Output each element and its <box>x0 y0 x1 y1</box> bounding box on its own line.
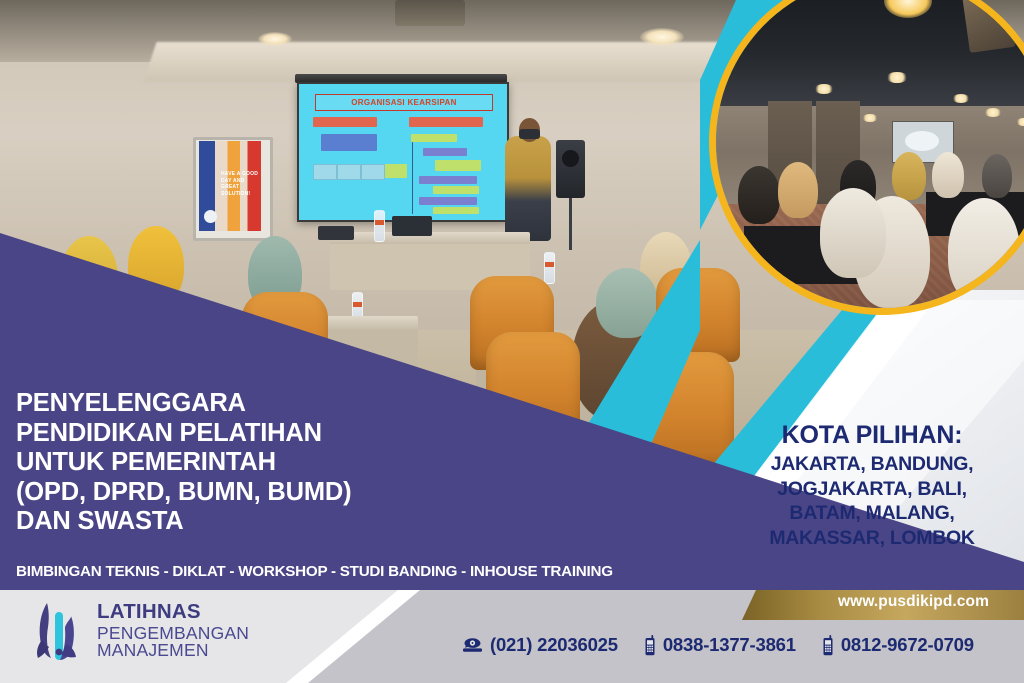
slide-node <box>409 117 483 127</box>
slide-node <box>435 160 481 171</box>
logo-wordmark: LATIHNAS PENGEMBANGAN MANAJEMEN <box>97 602 249 660</box>
website-url[interactable]: www.pusdikipd.com <box>838 593 989 611</box>
water-bottle <box>374 210 385 242</box>
mobile-number-1: 0838-1377-3861 <box>663 634 796 656</box>
inset-downlight <box>984 108 1002 117</box>
slide-node <box>423 148 467 156</box>
slide-node <box>337 164 361 180</box>
cities-heading: KOTA PILIHAN: <box>726 420 1018 450</box>
slide-node <box>433 207 479 214</box>
ceiling-light <box>640 28 684 46</box>
headline-line-3: UNTUK PEMERINTAH <box>16 448 351 478</box>
contact-telephone[interactable]: (021) 22036025 <box>462 634 618 656</box>
chair <box>242 292 328 388</box>
cities-line-1: JAKARTA, BANDUNG, <box>726 452 1018 477</box>
cities-block: KOTA PILIHAN: JAKARTA, BANDUNG, JOGJAKAR… <box>726 420 1018 550</box>
inset-projector <box>962 0 1015 53</box>
headline: PENYELENGGARA PENDIDIKAN PELATIHAN UNTUK… <box>16 389 351 537</box>
inset-downlight <box>952 94 970 103</box>
projection-screen: ORGANISASI KEARSIPAN <box>297 82 509 222</box>
headline-line-5: DAN SWASTA <box>16 507 351 537</box>
slide-node <box>419 197 477 205</box>
motivation-poster: HAVE A GOOD DAY AND GREAT SOLUTION! <box>199 141 261 231</box>
promotional-banner: HAVE A GOOD DAY AND GREAT SOLUTION! ORGA… <box>0 0 1024 683</box>
water-bottle <box>544 252 555 284</box>
mic-stand <box>569 198 572 250</box>
slide-node <box>361 164 385 180</box>
ceiling-light <box>258 32 292 46</box>
inset-participant <box>738 166 780 224</box>
inset-participant <box>820 188 886 278</box>
inset-downlight <box>814 84 834 94</box>
cities-line-2: JOGJAKARTA, BALI, <box>726 477 1018 502</box>
presenter-mask <box>519 129 540 139</box>
presenter-body <box>505 136 551 241</box>
chair <box>486 332 580 442</box>
inset-downlight <box>886 72 908 83</box>
poster-badge <box>204 210 217 223</box>
latihnas-logo[interactable]: LATIHNAS PENGEMBANGAN MANAJEMEN <box>30 600 249 662</box>
inset-participant <box>948 198 1020 304</box>
slide-connector <box>412 142 413 214</box>
poster-text: HAVE A GOOD DAY AND GREAT SOLUTION! <box>221 171 261 197</box>
slide-node <box>313 164 337 180</box>
headline-line-4: (OPD, DPRD, BUMN, BUMD) <box>16 478 351 508</box>
quill-feather-icon <box>30 600 86 662</box>
mobile-phone-icon <box>822 635 834 656</box>
telephone-number: (021) 22036025 <box>490 634 618 656</box>
contact-mobile-1[interactable]: 0838-1377-3861 <box>644 634 796 656</box>
slide-node <box>411 134 457 142</box>
services-line: BIMBINGAN TEKNIS - DIKLAT - WORKSHOP - S… <box>16 563 613 580</box>
cities-line-4: MAKASSAR, LOMBOK <box>726 526 1018 551</box>
inset-participant <box>932 152 964 198</box>
telephone-icon <box>462 637 483 653</box>
slide-title: ORGANISASI KEARSIPAN <box>315 94 493 111</box>
chair <box>628 352 734 470</box>
contact-mobile-2[interactable]: 0812-9672-0709 <box>822 634 974 656</box>
slide-node <box>385 164 407 178</box>
headline-line-1: PENYELENGGARA <box>16 389 351 419</box>
laptop <box>392 216 432 236</box>
mobile-number-2: 0812-9672-0709 <box>841 634 974 656</box>
slide-node <box>321 134 377 151</box>
speaker-box <box>556 140 585 198</box>
logo-name: LATIHNAS <box>97 602 249 623</box>
participant <box>60 236 118 320</box>
logo-tagline-2: MANAJEMEN <box>97 642 249 660</box>
inset-participant <box>982 154 1012 198</box>
circular-inset-photo <box>716 0 1024 308</box>
slide-node <box>419 176 477 184</box>
inset-downlight <box>862 114 878 122</box>
mobile-phone-icon <box>644 635 656 656</box>
cities-line-3: BATAM, MALANG, <box>726 501 1018 526</box>
participant <box>128 226 184 304</box>
slide-node <box>433 186 479 194</box>
inset-participant <box>778 162 818 218</box>
ceiling-projector <box>395 0 465 26</box>
participant <box>596 268 658 338</box>
equipment-case <box>318 226 354 240</box>
slide-node <box>313 117 377 127</box>
inset-participant <box>892 152 926 200</box>
contact-list: (021) 22036025 0838- <box>462 634 974 656</box>
headline-line-2: PENDIDIKAN PELATIHAN <box>16 419 351 449</box>
